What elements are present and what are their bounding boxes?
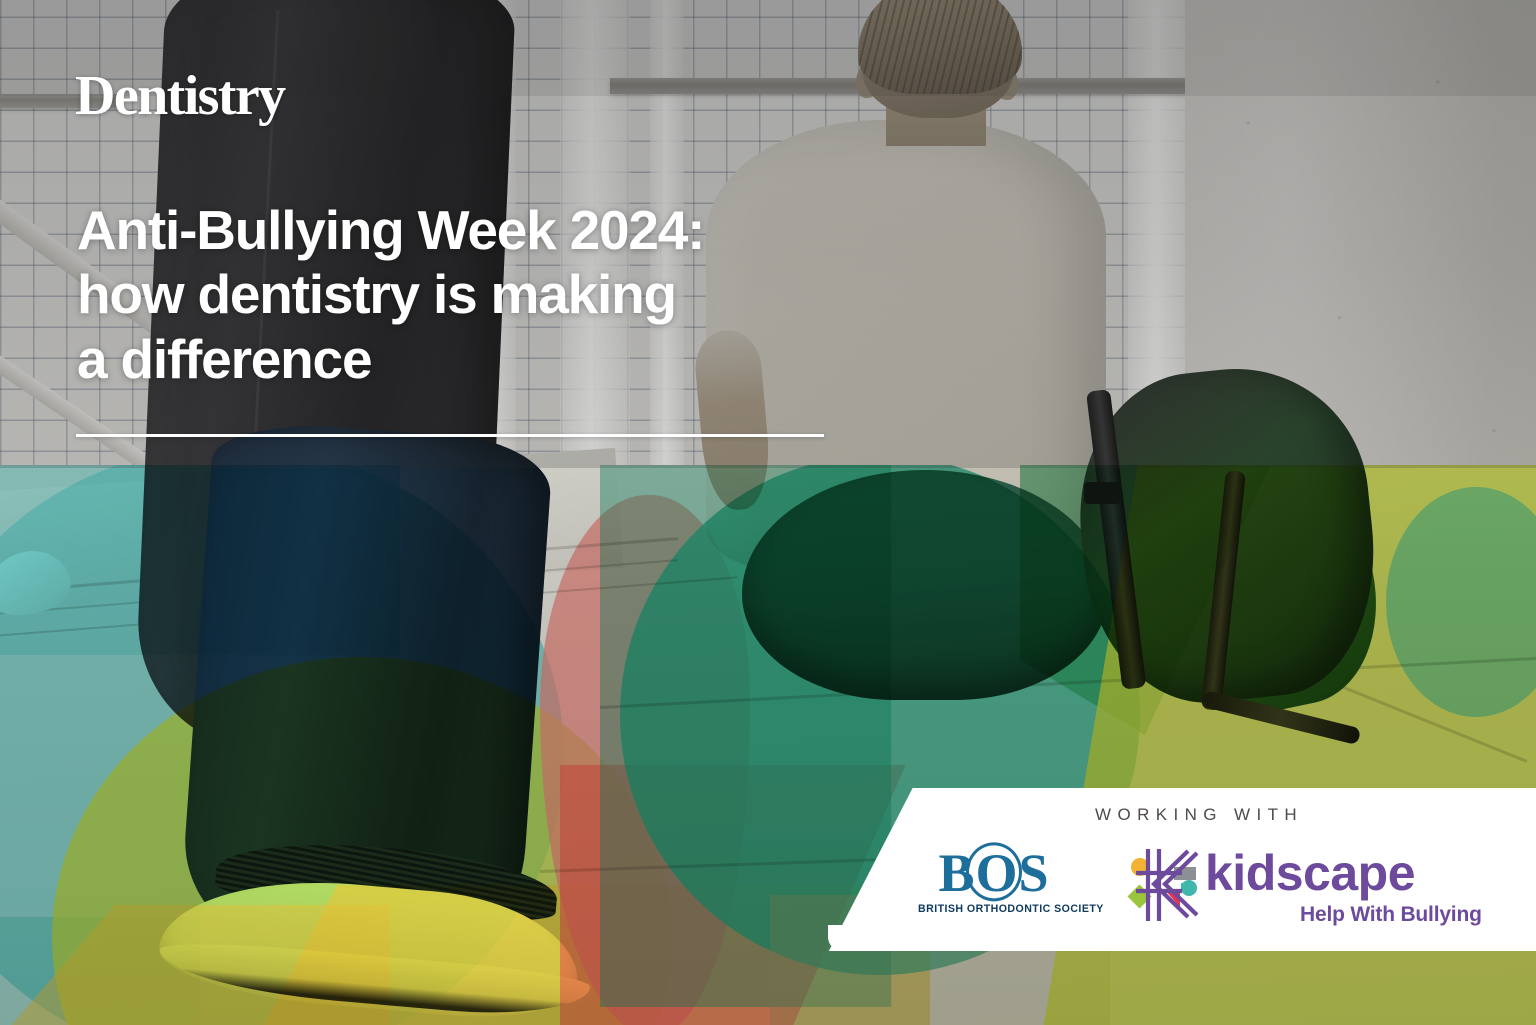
- kidscape-teal-rect-icon: [1181, 883, 1195, 892]
- headline-line-3: a difference: [77, 327, 867, 391]
- kidscape-tagline: Help With Bullying: [1300, 903, 1482, 927]
- panel-corner-top-left: [911, 788, 937, 814]
- dentistry-logo: Dentistry: [75, 68, 285, 124]
- headline-line-2: how dentistry is making: [77, 262, 867, 326]
- kidscape-wordmark[interactable]: kidscape: [1205, 848, 1415, 898]
- bos-logo[interactable]: BOS BRITISH ORTHODONTIC SOCIETY: [918, 845, 1070, 915]
- title-divider-rule: [76, 434, 824, 437]
- promo-banner: Dentistry Anti-Bullying Week 2024: how d…: [0, 0, 1536, 1025]
- kidscape-k-icon-svg: [1126, 843, 1210, 927]
- page-title: Anti-Bullying Week 2024: how dentistry i…: [77, 198, 867, 391]
- overlay-shape-cyan-block: [0, 465, 400, 655]
- bos-full-name: BRITISH ORTHODONTIC SOCIETY: [918, 903, 1070, 915]
- bos-mark-text: BOS: [938, 843, 1049, 903]
- kidscape-k-icon: [1126, 843, 1210, 927]
- working-with-label: WORKING WITH: [1095, 805, 1303, 825]
- headline-line-1: Anti-Bullying Week 2024:: [77, 198, 867, 262]
- panel-corner-bottom-left: [828, 925, 856, 951]
- bos-mark: BOS: [918, 845, 1070, 901]
